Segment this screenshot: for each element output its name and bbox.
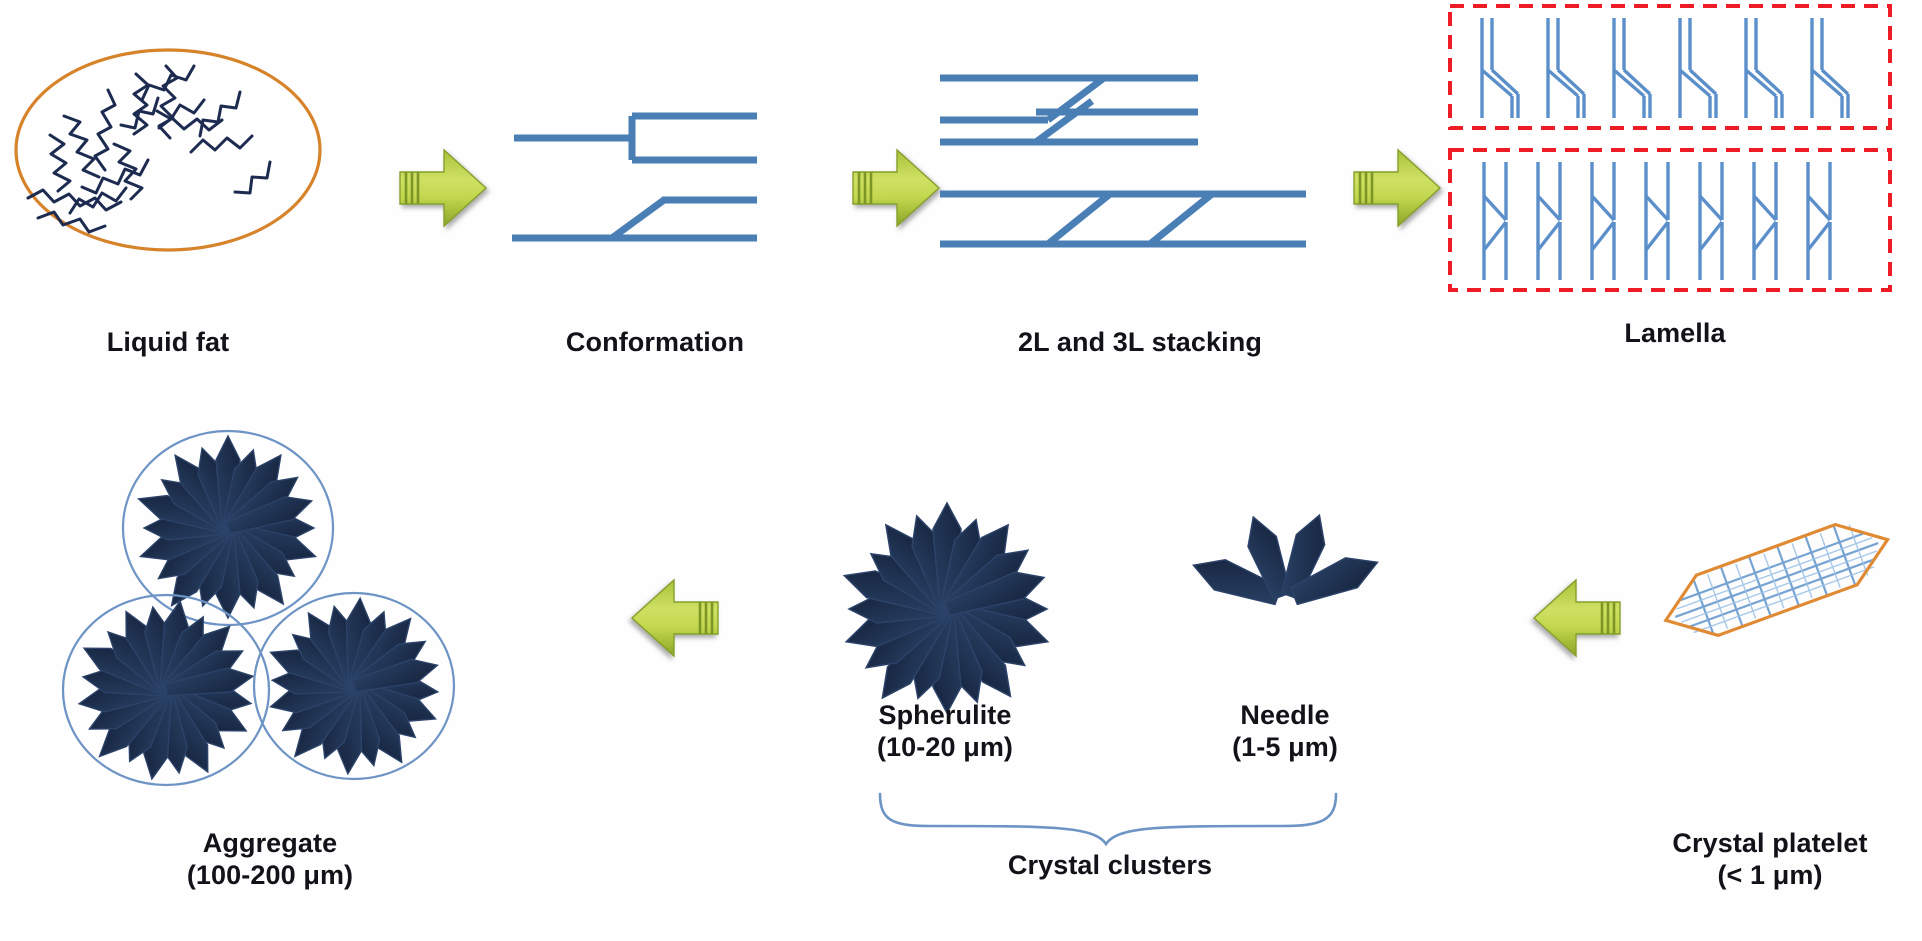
spherulite-label-size: (10-20 μm): [877, 732, 1013, 762]
arrow-2: [845, 142, 945, 238]
spherulite-label-name: Spherulite: [878, 700, 1011, 730]
spherulite-label: Spherulite(10-20 μm): [800, 700, 1090, 764]
liquid-fat-label: Liquid fat: [8, 327, 328, 359]
aggregate-label-size: (100-200 μm): [187, 860, 353, 890]
two-layer-stack: [940, 194, 1306, 244]
lamella-figure: [1448, 4, 1908, 304]
arrow-4: [626, 572, 726, 668]
conformation-figure: [512, 108, 802, 268]
chair-conformation: [512, 200, 757, 238]
spherulite-figure: [832, 506, 1062, 716]
aggregate-figure: [58, 418, 478, 808]
stacking-label: 2L and 3L stacking: [880, 327, 1400, 359]
conformation-label: Conformation: [460, 327, 850, 359]
arrow-right-icon: [1346, 142, 1446, 238]
tag-chain-group: [28, 66, 270, 232]
stacking-svg: [940, 68, 1340, 268]
arrow-3: [1346, 142, 1446, 238]
lamella-box-upper: [1450, 6, 1890, 128]
lamella-molecules-upper: [1482, 18, 1848, 118]
arrow-right-icon: [845, 142, 945, 238]
lamella-label: Lamella: [1500, 318, 1850, 350]
aggregate-unit-right: [254, 593, 454, 779]
needle-figure: [1178, 578, 1388, 708]
stacking-figure: [940, 68, 1340, 268]
diagram-canvas: Liquid fat: [0, 0, 1922, 941]
tuning-fork-conformation: [514, 116, 757, 160]
crystal-clusters-label: Crystal clusters: [870, 850, 1350, 882]
lamella-svg: [1448, 4, 1908, 304]
needle-label-name: Needle: [1240, 700, 1329, 730]
arrow-right-icon: [392, 142, 492, 238]
crystal-platelet-svg: [1648, 516, 1922, 706]
aggregate-svg: [58, 418, 478, 808]
needle-group: [1188, 510, 1383, 611]
aggregate-label: Aggregate(100-200 μm): [90, 828, 450, 892]
aggregate-label-name: Aggregate: [203, 828, 337, 858]
arrow-1: [392, 142, 492, 238]
conformation-svg: [512, 108, 802, 268]
aggregate-unit-left: [63, 595, 269, 785]
liquid-fat-figure: [8, 40, 328, 260]
arrow-left-icon: [626, 572, 726, 668]
liquid-fat-svg: [8, 40, 328, 260]
crystal-platelet-figure: [1648, 516, 1922, 706]
spherulite-svg: [832, 506, 1062, 716]
lamella-box-lower: [1450, 150, 1890, 290]
crystal-platelet-label-size: (< 1 μm): [1717, 860, 1822, 890]
arrow-left-icon: [1528, 572, 1628, 668]
needle-label: Needle(1-5 μm): [1140, 700, 1430, 764]
brace-icon: [870, 790, 1350, 850]
crystal-clusters-brace: [870, 790, 1350, 850]
needle-label-size: (1-5 μm): [1232, 732, 1338, 762]
lamella-molecules-lower: [1484, 162, 1830, 280]
crystal-platelet-label-name: Crystal platelet: [1672, 828, 1867, 858]
arrow-5: [1528, 572, 1628, 668]
needle-svg: [1178, 578, 1388, 708]
crystal-platelet-label: Crystal platelet(< 1 μm): [1620, 828, 1920, 892]
three-layer-stack: [940, 78, 1198, 142]
